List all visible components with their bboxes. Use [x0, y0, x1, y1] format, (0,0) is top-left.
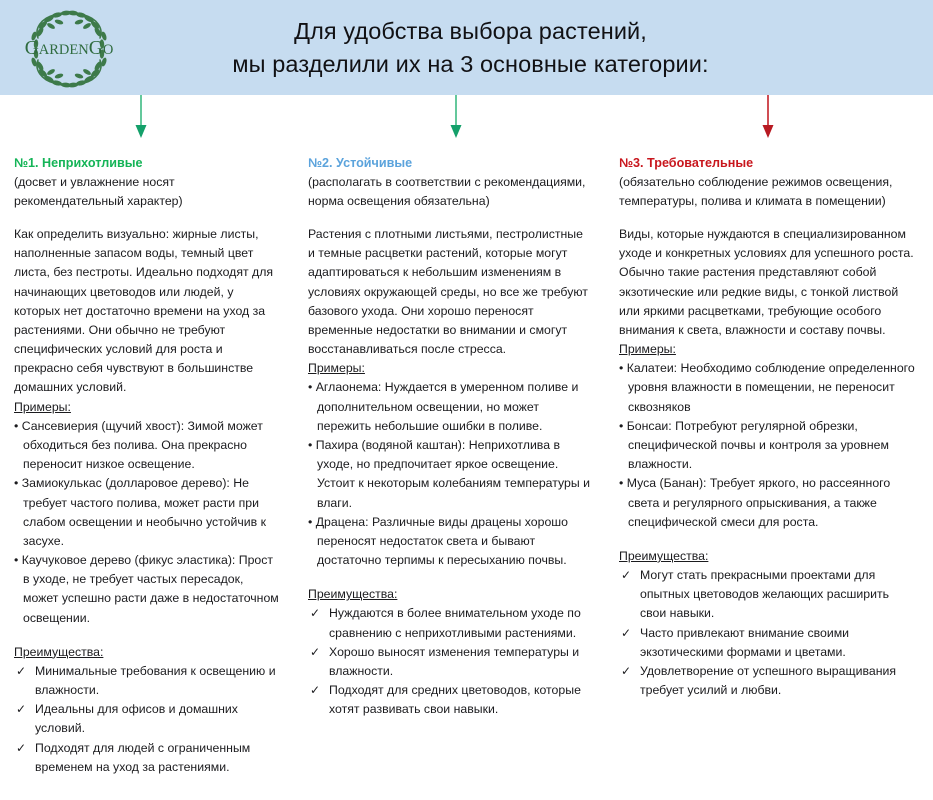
list-item: Хорошо выносят изменения температуры и в… — [308, 643, 593, 681]
category-2-advantages-label: Преимущества: — [308, 585, 593, 604]
brand-logo: GARDENGO — [0, 0, 138, 95]
category-3-examples-label: Примеры: — [619, 340, 917, 359]
page-title: Для удобства выбора растений, мы раздели… — [138, 15, 933, 80]
category-1-examples-list: Сансевиерия (щучий хвост): Зимой может о… — [14, 417, 281, 628]
category-1-advantages-label: Преимущества: — [14, 643, 281, 662]
category-1-subtitle: (досвет и увлажнение носят рекомендатель… — [14, 173, 281, 211]
list-item: Часто привлекают внимание своими экзотич… — [619, 624, 917, 662]
list-item: Нуждаются в более внимательном уходе по … — [308, 604, 593, 642]
list-item: Калатеи: Необходимо соблюдение определен… — [619, 359, 917, 417]
list-item: Могут стать прекрасными проектами для оп… — [619, 566, 917, 624]
page-header: GARDENGO Для удобства выбора растений, м… — [0, 0, 933, 95]
category-2-description: Растения с плотными листьями, пестролист… — [308, 225, 593, 359]
category-1-description: Как определить визуально: жирные листы, … — [14, 225, 281, 398]
category-3-description: Виды, которые нуждаются в специализирова… — [619, 225, 917, 340]
list-item: Удовлетворение от успешного выращивания … — [619, 662, 917, 700]
category-3-advantages-list: Могут стать прекрасными проектами для оп… — [619, 566, 917, 700]
category-3-examples-list: Калатеи: Необходимо соблюдение определен… — [619, 359, 917, 532]
category-2-advantages-list: Нуждаются в более внимательном уходе по … — [308, 604, 593, 719]
category-3-subtitle: (обязательно соблюдение режимов освещени… — [619, 173, 917, 211]
arrow-category-2 — [447, 95, 465, 140]
category-column-3: №3. Требовательные (обязательно соблюден… — [609, 155, 933, 700]
list-item: Аглаонема: Нуждается в умеренном поливе … — [308, 378, 593, 436]
list-item: Минимальные требования к освещению и вла… — [14, 662, 281, 700]
list-item: Сансевиерия (щучий хвост): Зимой может о… — [14, 417, 281, 475]
list-item: Замиокулькас (долларовое дерево): Не тре… — [14, 474, 281, 551]
category-2-examples-label: Примеры: — [308, 359, 593, 378]
page-title-line-2: мы разделили их на 3 основные категории: — [138, 48, 803, 80]
arrow-category-1 — [132, 95, 150, 140]
list-item: Каучуковое дерево (фикус эластика): Прос… — [14, 551, 281, 628]
page-title-line-1: Для удобства выбора растений, — [138, 15, 803, 47]
infographic-page: GARDENGO Для удобства выбора растений, м… — [0, 0, 933, 800]
category-2-examples-list: Аглаонема: Нуждается в умеренном поливе … — [308, 378, 593, 570]
category-columns: №1. Неприхотливые (досвет и увлажнение н… — [0, 155, 933, 777]
list-item: Бонсаи: Потребуют регулярной обрезки, сп… — [619, 417, 917, 475]
category-column-1: №1. Неприхотливые (досвет и увлажнение н… — [0, 155, 297, 777]
category-1-advantages-list: Минимальные требования к освещению и вла… — [14, 662, 281, 777]
category-2-subtitle: (располагать в соответствии с рекомендац… — [308, 173, 593, 211]
arrow-category-3 — [759, 95, 777, 140]
list-item: Пахира (водяной каштан): Неприхотлива в … — [308, 436, 593, 513]
list-item: Муса (Банан): Требует яркого, но рассеян… — [619, 474, 917, 532]
category-1-examples-label: Примеры: — [14, 398, 281, 417]
category-3-heading: №3. Требовательные — [619, 155, 917, 172]
list-item: Подходят для средних цветоводов, которые… — [308, 681, 593, 719]
list-item: Идеальны для офисов и домашних условий. — [14, 700, 281, 738]
list-item: Драцена: Различные виды драцены хорошо п… — [308, 513, 593, 571]
category-arrows — [0, 95, 933, 145]
list-item: Подходят для людей с ограниченным времен… — [14, 739, 281, 777]
category-column-2: №2. Устойчивые (располагать в соответств… — [297, 155, 609, 719]
category-2-heading: №2. Устойчивые — [308, 155, 593, 172]
category-3-advantages-label: Преимущества: — [619, 547, 917, 566]
category-1-heading: №1. Неприхотливые — [14, 155, 281, 172]
brand-wordmark: GARDENGO — [25, 38, 114, 59]
laurel-wreath-icon: GARDENGO — [10, 8, 128, 88]
